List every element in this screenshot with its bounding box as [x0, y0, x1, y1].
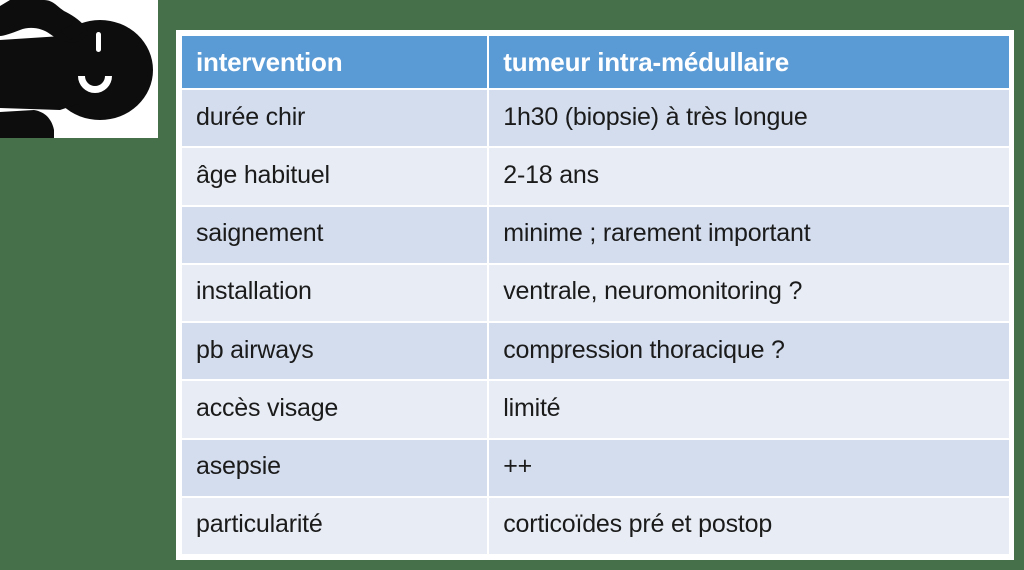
table-row: accès visage limité	[182, 381, 1009, 437]
row-key-pb-airways: pb airways	[182, 323, 487, 379]
row-key-asepsie: asepsie	[182, 440, 487, 496]
table-row: âge habituel 2-18 ans	[182, 148, 1009, 204]
row-value-duree-chir: 1h30 (biopsie) à très longue	[489, 90, 1009, 146]
row-key-saignement: saignement	[182, 207, 487, 263]
comparison-table-container: intervention tumeur intra-médullaire dur…	[176, 30, 1014, 560]
table-row: installation ventrale, neuromonitoring ?	[182, 265, 1009, 321]
table-row: durée chir 1h30 (biopsie) à très longue	[182, 90, 1009, 146]
table-header-row: intervention tumeur intra-médullaire	[182, 36, 1009, 88]
illustration-box	[0, 0, 158, 138]
prone-patient-silhouette-icon	[0, 0, 158, 138]
row-key-acces-visage: accès visage	[182, 381, 487, 437]
column-header-tumeur: tumeur intra-médullaire	[489, 36, 1009, 88]
row-key-particularite: particularité	[182, 498, 487, 554]
row-value-saignement: minime ; rarement important	[489, 207, 1009, 263]
table-row: particularité corticoïdes pré et postop	[182, 498, 1009, 554]
column-header-intervention: intervention	[182, 36, 487, 88]
row-value-installation: ventrale, neuromonitoring ?	[489, 265, 1009, 321]
row-key-installation: installation	[182, 265, 487, 321]
row-key-age-habituel: âge habituel	[182, 148, 487, 204]
row-value-acces-visage: limité	[489, 381, 1009, 437]
table-row: saignement minime ; rarement important	[182, 207, 1009, 263]
row-value-age-habituel: 2-18 ans	[489, 148, 1009, 204]
table-header: intervention tumeur intra-médullaire	[182, 36, 1009, 88]
table-body: durée chir 1h30 (biopsie) à très longue …	[182, 90, 1009, 554]
row-value-pb-airways: compression thoracique ?	[489, 323, 1009, 379]
table-row: asepsie ++	[182, 440, 1009, 496]
row-key-duree-chir: durée chir	[182, 90, 487, 146]
table-row: pb airways compression thoracique ?	[182, 323, 1009, 379]
row-value-particularite: corticoïdes pré et postop	[489, 498, 1009, 554]
row-value-asepsie: ++	[489, 440, 1009, 496]
comparison-table: intervention tumeur intra-médullaire dur…	[180, 34, 1011, 556]
